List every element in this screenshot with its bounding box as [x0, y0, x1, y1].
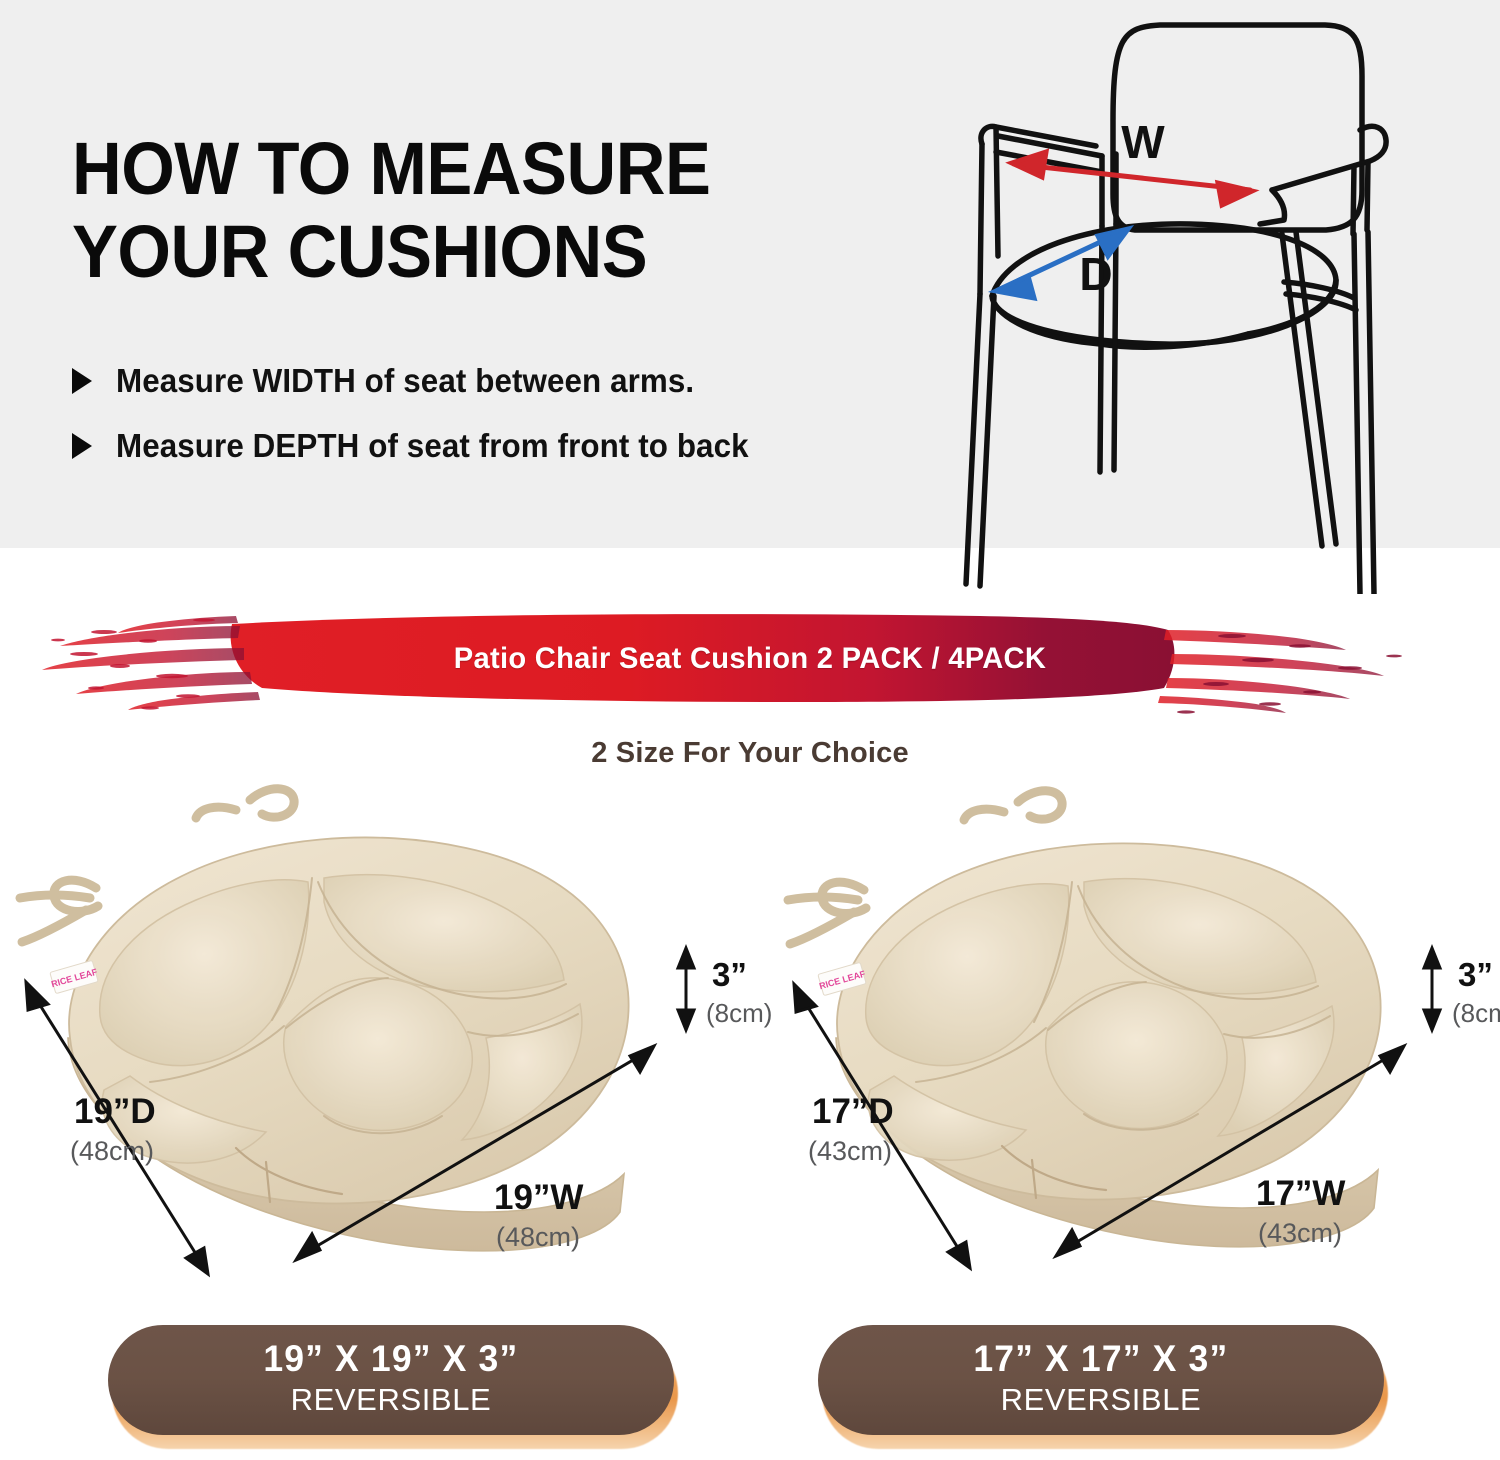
width-metric-label: (48cm): [496, 1222, 580, 1253]
depth-metric-label: (43cm): [808, 1136, 892, 1167]
pill-size-label: 19” X 19” X 3”: [263, 1340, 518, 1379]
page-title: HOW TO MEASURE YOUR CUSHIONS: [72, 128, 760, 294]
width-label: W: [1121, 116, 1165, 168]
thickness-label: 3”: [1458, 956, 1493, 994]
size-pill-17[interactable]: 17” X 17” X 3” REVERSIBLE: [818, 1325, 1384, 1443]
depth-metric-label: (48cm): [70, 1136, 154, 1167]
size-pill-19[interactable]: 19” X 19” X 3” REVERSIBLE: [108, 1325, 674, 1443]
section-subtitle: 2 Size For Your Choice: [0, 737, 1500, 770]
cushion-illustration: RICE LEAF: [760, 770, 1500, 1300]
cushion-17-inch-figure: RICE LEAF 17”D (43cm) 17”W (43cm) 3” (8c…: [760, 770, 1500, 1300]
cushion-19-inch-figure: RICE LEAF 19”D (48cm) 19”W (48cm) 3” (8c…: [0, 770, 750, 1300]
width-metric-label: (43cm): [1258, 1218, 1342, 1249]
depth-label: 17”D: [812, 1092, 894, 1132]
measure-instructions-list: Measure WIDTH of seat between arms. Meas…: [72, 362, 892, 492]
product-banner: Patio Chair Seat Cushion 2 PACK / 4PACK: [0, 596, 1500, 726]
thickness-label: 3”: [712, 956, 747, 994]
triangle-right-icon: [72, 368, 92, 394]
width-label: 17”W: [1256, 1174, 1345, 1214]
armchair-measurement-diagram: W D: [930, 0, 1500, 594]
thickness-metric-label: (8cm): [1452, 998, 1500, 1029]
list-item: Measure DEPTH of seat from front to back: [72, 427, 892, 466]
list-item-label: Measure DEPTH of seat from front to back: [116, 427, 749, 466]
list-item-label: Measure WIDTH of seat between arms.: [116, 362, 694, 401]
pill-subtitle-label: REVERSIBLE: [1001, 1381, 1202, 1420]
pill-body[interactable]: 17” X 17” X 3” REVERSIBLE: [818, 1325, 1384, 1435]
page-title-line-2: YOUR CUSHIONS: [72, 211, 760, 294]
cushion-illustration: RICE LEAF: [0, 770, 750, 1300]
width-label: 19”W: [494, 1178, 583, 1218]
banner-title: Patio Chair Seat Cushion 2 PACK / 4PACK: [23, 642, 1478, 676]
pill-body[interactable]: 19” X 19” X 3” REVERSIBLE: [108, 1325, 674, 1435]
list-item: Measure WIDTH of seat between arms.: [72, 362, 892, 401]
depth-label: D: [1079, 248, 1112, 300]
triangle-right-icon: [72, 433, 92, 459]
pill-size-label: 17” X 17” X 3”: [973, 1340, 1228, 1379]
depth-label: 19”D: [74, 1092, 156, 1132]
pill-subtitle-label: REVERSIBLE: [291, 1381, 492, 1420]
page-title-line-1: HOW TO MEASURE: [72, 128, 760, 211]
thickness-dimension-arrow: [1424, 948, 1440, 1030]
thickness-dimension-arrow: [678, 948, 694, 1030]
